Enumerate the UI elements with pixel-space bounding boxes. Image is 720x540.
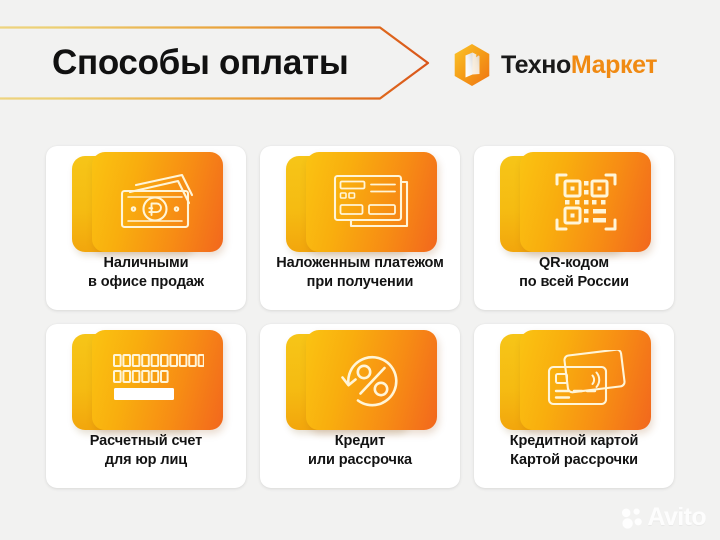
card-label-line1: Расчетный счет xyxy=(90,433,202,449)
percent-refresh-icon xyxy=(339,347,405,413)
banknotes-ruble-icon xyxy=(116,173,200,231)
card-label: Наложенным платежом при получении xyxy=(260,254,460,292)
avito-dots-icon xyxy=(621,507,643,529)
page-title: Способы оплаты xyxy=(52,38,348,88)
payment-methods-grid: Наличными в офисе продаж xyxy=(46,146,674,488)
page-header: Способы оплаты xyxy=(0,0,720,126)
qr-code-icon xyxy=(554,170,618,234)
brand-name-part2: Маркет xyxy=(571,51,657,79)
invoice-document-icon xyxy=(331,172,413,232)
card-label-line1: Наложенным платежом xyxy=(276,255,443,271)
tile-front-shape xyxy=(306,152,437,252)
card-label-line1: Кредит xyxy=(335,433,385,449)
brand-name: ТехноМаркет xyxy=(501,53,657,78)
card-label-line2: в офисе продаж xyxy=(50,273,242,292)
card-label-line1: Кредитной картой xyxy=(510,433,639,449)
payment-card-credit[interactable]: Кредит или рассрочка xyxy=(260,324,460,488)
credit-cards-icon xyxy=(546,350,626,410)
payment-card-credit-card[interactable]: Кредитной картой Картой рассрочки xyxy=(474,324,674,488)
avito-watermark: Avito xyxy=(621,505,706,530)
card-illustration xyxy=(46,152,246,252)
card-label-line2: Картой рассрочки xyxy=(478,451,670,470)
card-label: Кредитной картой Картой рассрочки xyxy=(474,432,674,470)
card-illustration xyxy=(46,330,246,430)
card-label: Наличными в офисе продаж xyxy=(46,254,246,292)
account-number-icon xyxy=(112,352,204,408)
tile-front-shape xyxy=(520,152,651,252)
payment-card-cash[interactable]: Наличными в офисе продаж xyxy=(46,146,246,310)
card-label: QR-кодом по всей России xyxy=(474,254,674,292)
brand-name-part1: Техно xyxy=(501,51,571,79)
card-illustration xyxy=(260,330,460,430)
card-label: Кредит или рассрочка xyxy=(260,432,460,470)
tile-front-shape xyxy=(520,330,651,430)
tile-front-shape xyxy=(306,330,437,430)
card-illustration xyxy=(474,330,674,430)
avito-watermark-text: Avito xyxy=(647,505,706,530)
tile-front-shape xyxy=(92,152,223,252)
payment-methods-page: Способы оплаты xyxy=(0,0,720,540)
card-illustration xyxy=(474,152,674,252)
card-label-line2: по всей России xyxy=(478,273,670,292)
payment-card-bank-account[interactable]: Расчетный счет для юр лиц xyxy=(46,324,246,488)
card-label-line1: QR-кодом xyxy=(539,255,609,271)
tile-front-shape xyxy=(92,330,223,430)
brand-logo: ТехноМаркет xyxy=(452,42,657,88)
card-label-line2: для юр лиц xyxy=(50,451,242,470)
card-label: Расчетный счет для юр лиц xyxy=(46,432,246,470)
hexagon-logo-icon xyxy=(452,43,492,87)
card-label-line2: или рассрочка xyxy=(264,451,456,470)
card-label-line2: при получении xyxy=(264,273,456,292)
card-illustration xyxy=(260,152,460,252)
card-label-line1: Наличными xyxy=(104,255,189,271)
payment-card-qr[interactable]: QR-кодом по всей России xyxy=(474,146,674,310)
payment-card-cash-on-delivery[interactable]: Наложенным платежом при получении xyxy=(260,146,460,310)
